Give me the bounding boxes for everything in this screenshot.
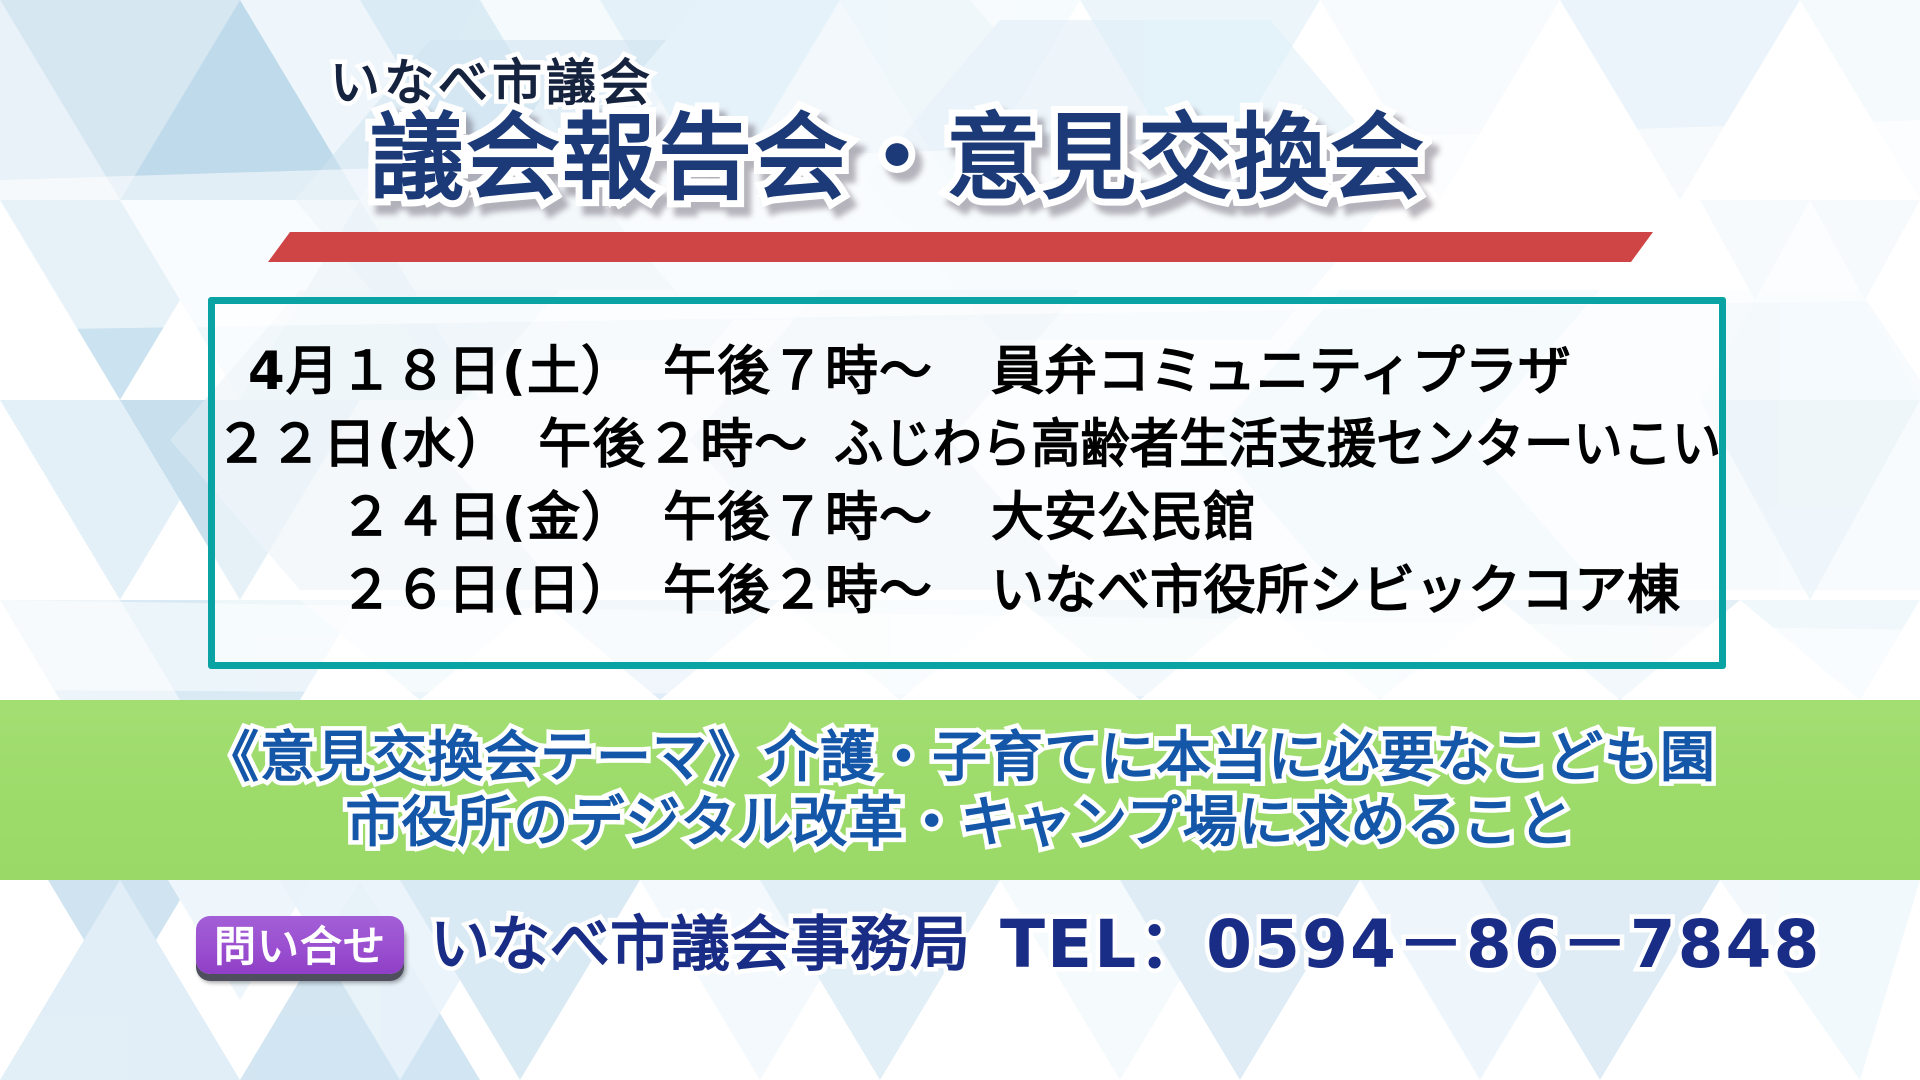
poster-root: いなべ市議会 議会報告会・意見交換会 4月１８日(土） 午後７時～ 員弁コミュニ… [0, 0, 1920, 1080]
schedule-row: ２６日(日） 午後２時～ いなべ市役所シビックコア棟 [215, 554, 1719, 627]
schedule-time: 午後７時～ [639, 345, 963, 398]
schedule-date: ２４日(金） [215, 491, 639, 544]
schedule-place: いなべ市役所シビックコア棟 [963, 564, 1680, 617]
title-zone: いなべ市議会 議会報告会・意見交換会 [0, 0, 1920, 290]
contact-row: 問い合せ いなべ市議会事務局 TEL：0594－86－7848 [0, 890, 1920, 1000]
contact-organization: いなべ市議会事務局 [430, 915, 970, 975]
schedule-time: 午後２時～ [514, 418, 808, 471]
schedule-row: 4月１８日(土） 午後７時～ 員弁コミュニティプラザ [215, 335, 1719, 408]
theme-band: 《意見交換会テーマ》介護・子育てに本当に必要なこども園 市役所のデジタル改革・キ… [0, 700, 1920, 880]
schedule-date: 4月１８日(土） [215, 345, 639, 398]
schedule-row: ２２日(水） 午後２時～ ふじわら高齢者生活支援センターいこい [215, 408, 1719, 481]
schedule-place: 員弁コミュニティプラザ [963, 345, 1571, 398]
schedule-date: ２２日(水） [215, 418, 514, 471]
theme-line-2: 市役所のデジタル改革・キャンプ場に求めること [345, 790, 1574, 855]
schedule-time: 午後７時～ [639, 491, 963, 544]
theme-line-1: 《意見交換会テーマ》介護・子育てに本当に必要なこども園 [204, 725, 1716, 790]
schedule-box: 4月１８日(土） 午後７時～ 員弁コミュニティプラザ ２２日(水） 午後２時～ … [208, 297, 1726, 669]
title-ribbon [268, 232, 1653, 262]
inquiry-badge: 問い合せ [196, 916, 404, 974]
schedule-row: ２４日(金） 午後７時～ 大安公民館 [215, 481, 1719, 554]
schedule-place: ふじわら高齢者生活支援センターいこい [808, 418, 1721, 471]
schedule-date: ２６日(日） [215, 564, 639, 617]
schedule-time: 午後２時～ [639, 564, 963, 617]
schedule-place: 大安公民館 [963, 491, 1256, 544]
page-title: 議会報告会・意見交換会 [370, 112, 1426, 206]
contact-telephone: TEL：0594－86－7848 [1000, 912, 1821, 978]
poster-subtitle: いなべ市議会 [330, 58, 654, 108]
